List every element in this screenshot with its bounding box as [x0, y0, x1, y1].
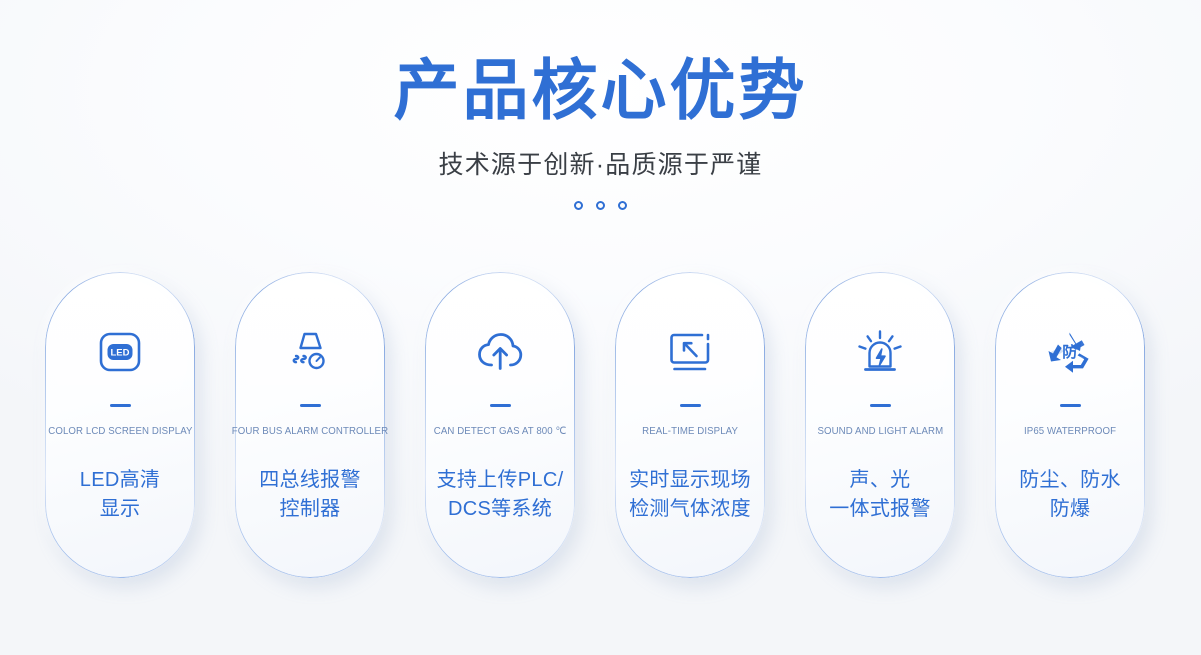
feature-card[interactable]: SOUND AND LIGHT ALARM 声、光 一体式报警 — [805, 272, 955, 578]
card-eng-caption: IP65 WATERPROOF — [1024, 425, 1116, 438]
card-eng-caption: CAN DETECT GAS AT 800 ℃ — [434, 425, 567, 438]
decorative-dots — [0, 201, 1201, 210]
feature-card[interactable]: LED COLOR LCD SCREEN DISPLAY LED高清 显示 — [45, 272, 195, 578]
led-screen-icon: LED — [93, 324, 147, 380]
feature-card[interactable]: CAN DETECT GAS AT 800 ℃ 支持上传PLC/ DCS等系统 — [425, 272, 575, 578]
feature-card[interactable]: 防 IP65 WATERPROOF 防尘、防水 防爆 — [995, 272, 1145, 578]
page-subtitle: 技术源于创新·品质源于严谨 — [0, 145, 1201, 181]
feature-card[interactable]: FOUR BUS ALARM CONTROLLER 四总线报警 控制器 — [235, 272, 385, 578]
card-eng-caption: SOUND AND LIGHT ALARM — [817, 425, 943, 438]
card-divider — [490, 404, 511, 407]
feature-card[interactable]: REAL-TIME DISPLAY 实时显示现场 检测气体浓度 — [615, 272, 765, 578]
dot-icon — [574, 201, 583, 210]
alarm-beacon-icon — [852, 324, 908, 380]
card-eng-caption: COLOR LCD SCREEN DISPLAY — [48, 425, 192, 438]
card-cn-title: 四总线报警 控制器 — [259, 466, 361, 524]
feature-card-list: LED COLOR LCD SCREEN DISPLAY LED高清 显示 FO… — [45, 272, 1155, 578]
gas-detector-icon — [283, 324, 337, 380]
feature-highlights-page: 产品核心优势 技术源于创新·品质源于严谨 LED COLOR LCD SCREE… — [0, 0, 1201, 655]
dot-icon — [596, 201, 605, 210]
card-eng-caption: FOUR BUS ALARM CONTROLLER — [232, 425, 388, 438]
card-cn-title: 实时显示现场 检测气体浓度 — [629, 466, 751, 524]
card-divider — [300, 404, 321, 407]
card-divider — [1060, 404, 1081, 407]
page-header: 产品核心优势 技术源于创新·品质源于严谨 — [0, 0, 1201, 210]
card-eng-caption: REAL-TIME DISPLAY — [642, 425, 738, 438]
card-cn-title: 防尘、防水 防爆 — [1019, 466, 1121, 524]
card-divider — [870, 404, 891, 407]
dot-icon — [618, 201, 627, 210]
svg-text:防: 防 — [1062, 343, 1077, 361]
protection-recycle-icon: 防 — [1042, 324, 1098, 380]
card-cn-title: LED高清 显示 — [80, 466, 160, 524]
page-title: 产品核心优势 — [0, 56, 1201, 125]
card-cn-title: 声、光 一体式报警 — [829, 466, 931, 524]
card-divider — [680, 404, 701, 407]
cloud-upload-icon — [471, 324, 529, 380]
card-cn-title: 支持上传PLC/ DCS等系统 — [437, 466, 564, 524]
card-divider — [110, 404, 131, 407]
monitor-display-icon — [662, 324, 718, 380]
svg-text:LED: LED — [111, 348, 130, 359]
